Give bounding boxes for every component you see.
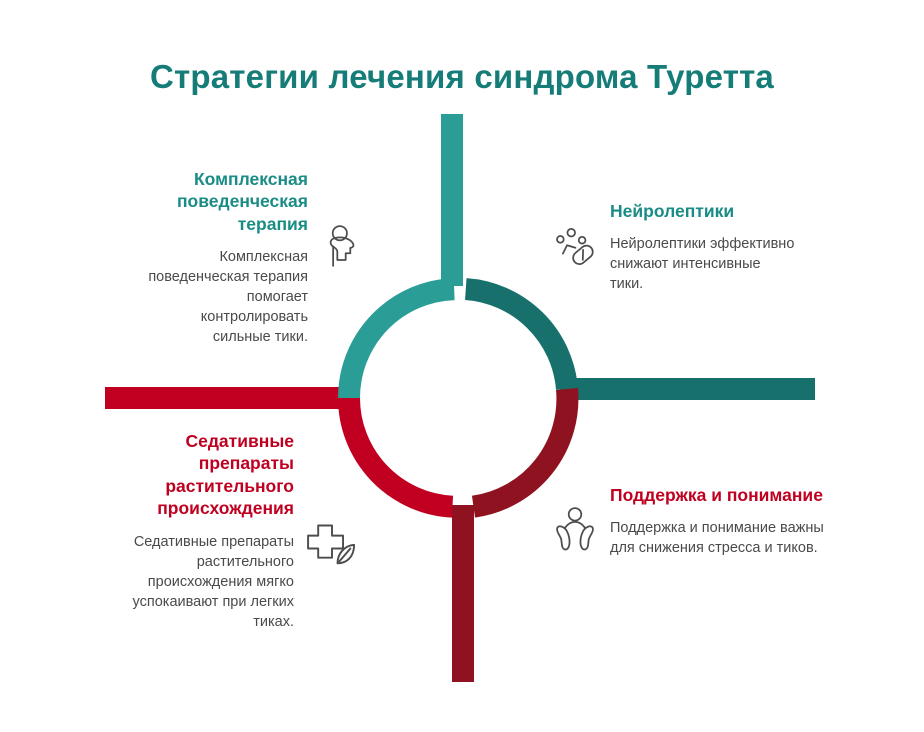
infographic-canvas: Стратегии лечения синдрома Туретта Компл…: [0, 0, 924, 732]
sedatives-heading: Седативные препараты растительного проис…: [114, 430, 294, 520]
arm-right: [560, 378, 815, 400]
page-title: Стратегии лечения синдрома Туретта: [0, 58, 924, 96]
arm-bottom-stem: [452, 505, 474, 682]
quadrant-herbal-sedatives: Седативные препараты растительного проис…: [110, 430, 360, 632]
neuroleptics-heading: Нейролептики: [610, 200, 795, 222]
quadrant-neuroleptics: Нейролептики Нейролептики эффективно сни…: [552, 200, 822, 294]
behavioral-body: Комплексная поведенческая терапия помога…: [148, 247, 308, 347]
arm-top-stem: [441, 114, 463, 286]
support-body: Поддержка и понимание важны для снижения…: [610, 518, 825, 558]
quadrant-behavioral-therapy: Комплексная поведенческая терапия Компле…: [120, 168, 360, 347]
medical-cross-leaf-icon: [304, 520, 360, 566]
support-heading: Поддержка и понимание: [610, 484, 825, 506]
neuroleptics-text-column: Нейролептики Нейролептики эффективно сни…: [610, 200, 795, 294]
sedatives-body: Седативные препараты растительного проис…: [114, 532, 294, 632]
support-text-column: Поддержка и понимание Поддержка и понима…: [610, 484, 825, 558]
arc-top-left: [349, 289, 454, 398]
quadrant-support-understanding: Поддержка и понимание Поддержка и понима…: [552, 484, 852, 558]
arc-top-right: [466, 289, 567, 389]
arc-bottom-left: [349, 398, 453, 507]
behavioral-text-column: Комплексная поведенческая терапия Компле…: [148, 168, 308, 347]
head-profile-person-icon: [318, 224, 360, 270]
sedatives-text-column: Седативные препараты растительного проис…: [114, 430, 294, 632]
behavioral-heading: Комплексная поведенческая терапия: [148, 168, 308, 235]
neuroleptics-body: Нейролептики эффективно снижают интенсив…: [610, 234, 795, 294]
arm-left: [105, 387, 360, 409]
person-raised-hands-icon: [552, 506, 598, 554]
pills-capsule-icon: [552, 226, 598, 272]
